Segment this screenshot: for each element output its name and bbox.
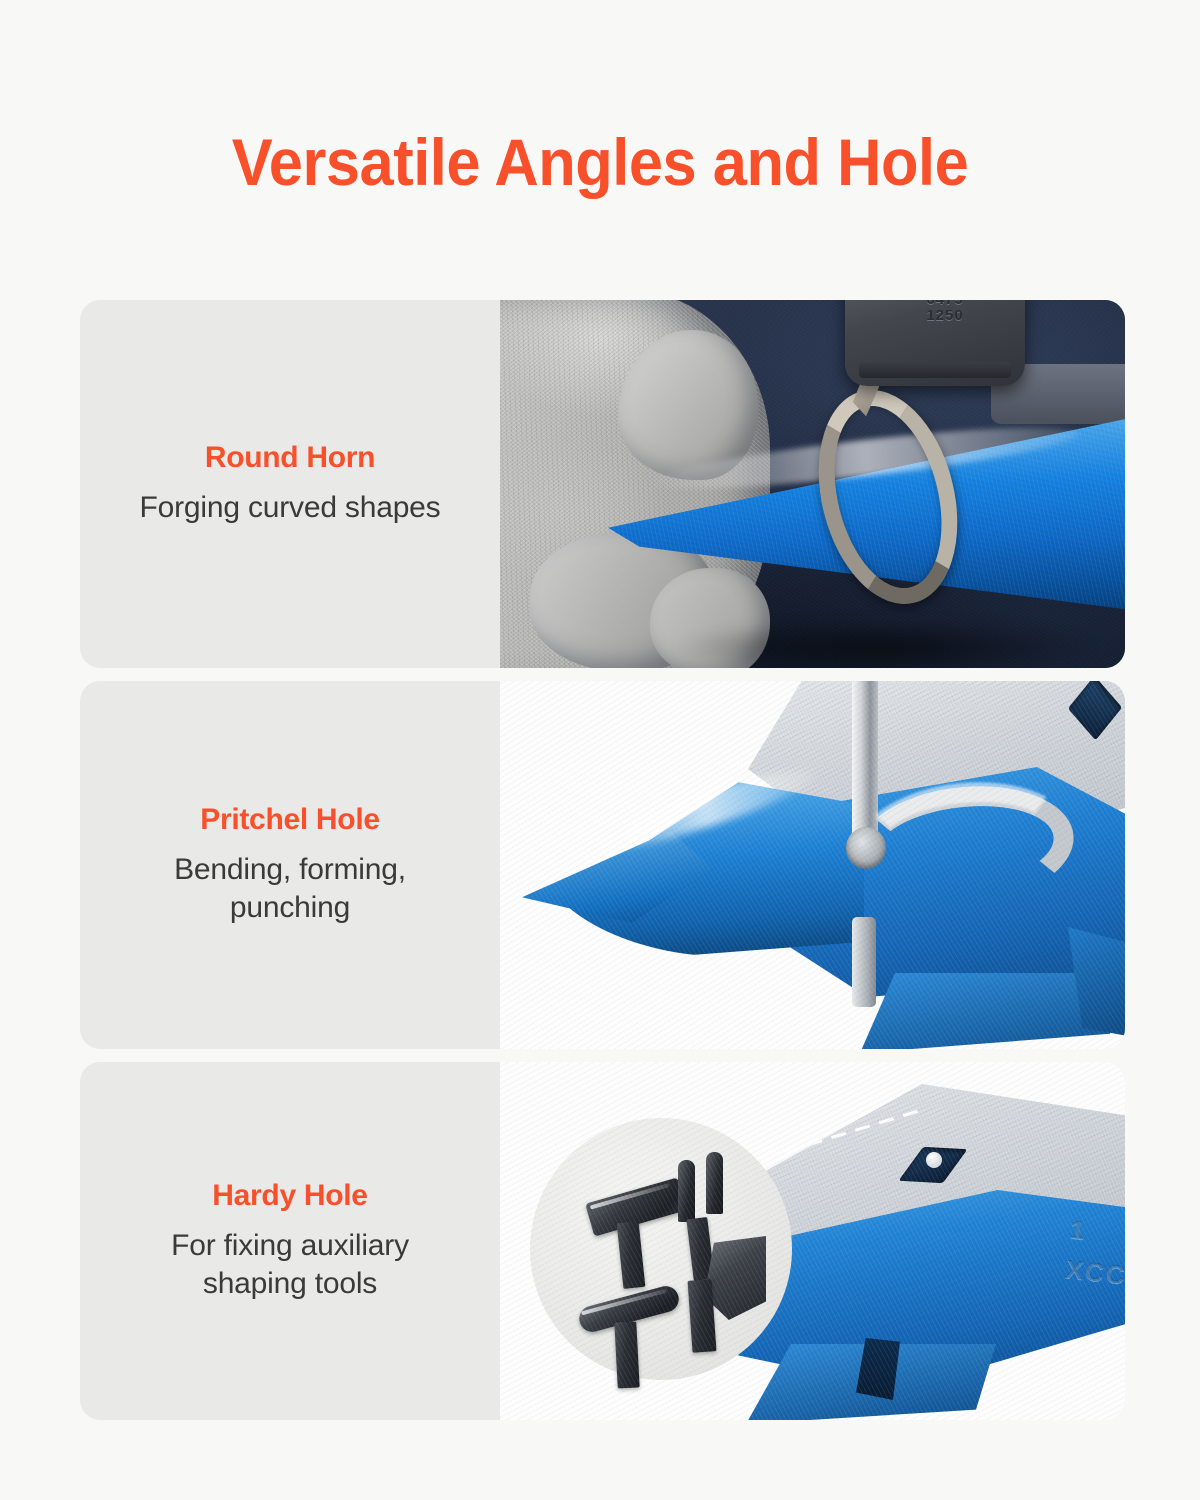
card-description: Forging curved shapes: [140, 489, 441, 527]
tool-highlight: [590, 1183, 670, 1209]
card-text-block: Hardy Hole For fixing auxiliaryshaping t…: [80, 1062, 500, 1420]
card-heading: Hardy Hole: [212, 1179, 367, 1213]
hardy-hole-photo: 1XCC: [500, 1062, 1125, 1420]
tool-prong-left: [678, 1160, 695, 1222]
round-horn-photo: DIN 6475 1250: [500, 300, 1125, 668]
tool-prong-right: [706, 1152, 723, 1214]
hammer-stamp-line-3: 1250: [926, 308, 963, 323]
card-text-block: Round Horn Forging curved shapes: [80, 300, 500, 668]
tool-highlight: [581, 1289, 667, 1316]
hammer-head: DIN 6475 1250: [845, 300, 1025, 386]
steel-rod-lower: [852, 917, 876, 1007]
anvil-foot: [860, 973, 1110, 1049]
card-text-block: Pritchel Hole Bending, forming,punching: [80, 681, 500, 1049]
pritchel-hole-joint: [846, 827, 886, 869]
feature-card-round-horn: Round Horn Forging curved shapes DIN 647…: [80, 300, 1125, 668]
hardy-hole-highlight: [926, 1152, 942, 1168]
hardy-tools-inset: [530, 1118, 792, 1380]
card-description: Bending, forming,punching: [174, 851, 406, 928]
hammer-face: [859, 362, 1011, 378]
tool-shank: [614, 1321, 639, 1388]
feature-card-pritchel-hole: Pritchel Hole Bending, forming,punching: [80, 681, 1125, 1049]
photo-shadow: [670, 618, 1100, 668]
card-heading: Round Horn: [205, 441, 375, 475]
tool-shank: [617, 1221, 646, 1289]
pritchel-hole-photo: [500, 681, 1125, 1049]
tool-shank: [688, 1279, 717, 1352]
card-description: For fixing auxiliaryshaping tools: [171, 1227, 409, 1304]
page-title: Versatile Angles and Hole: [42, 124, 1158, 200]
anvil-embossed-text: 1XCC: [1064, 1209, 1125, 1296]
hammer-stamp: DIN 6475 1250: [897, 300, 993, 328]
card-heading: Pritchel Hole: [200, 803, 379, 837]
feature-card-hardy-hole: Hardy Hole For fixing auxiliaryshaping t…: [80, 1062, 1125, 1420]
